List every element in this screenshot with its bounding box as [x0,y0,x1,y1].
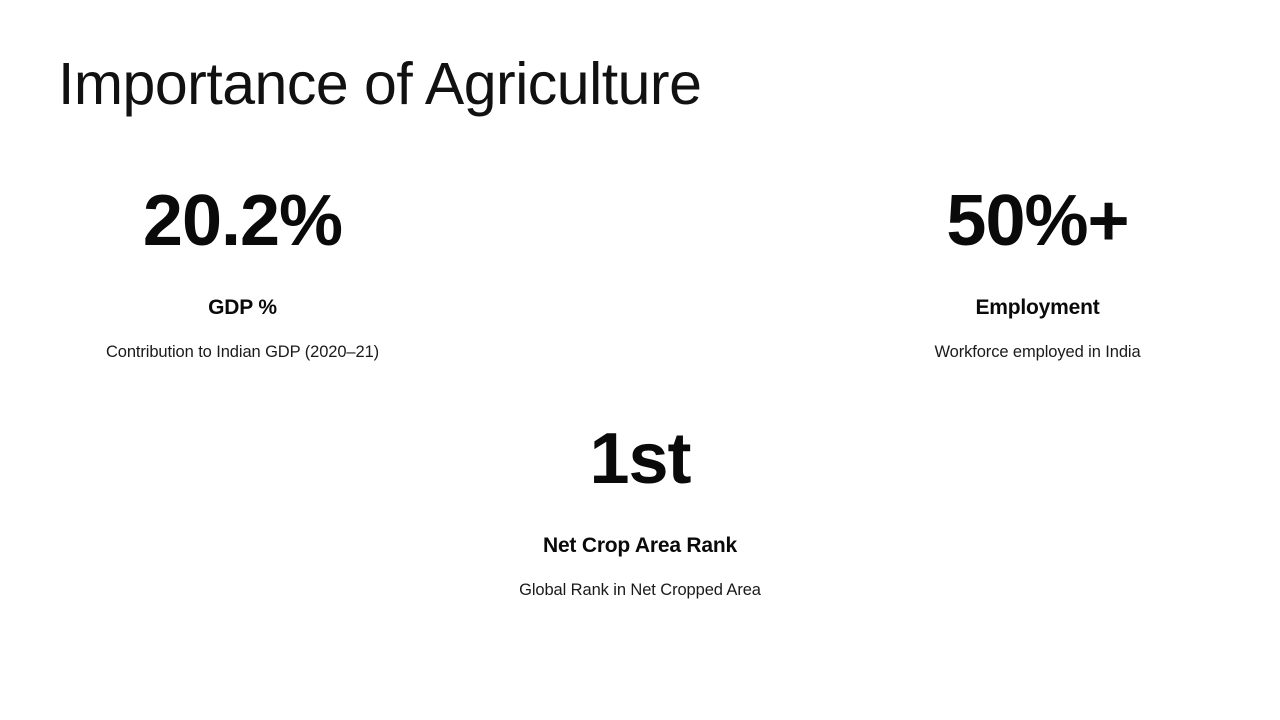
stat-value-gdp: 20.2% [0,185,485,257]
stat-value-employment: 50%+ [795,185,1280,257]
slide-canvas: Importance of Agriculture 20.2% GDP % Co… [0,0,1280,720]
stat-label-gdp: GDP % [0,295,485,320]
stat-description-employment: Workforce employed in India [795,342,1280,363]
stat-value-net-crop-area-rank: 1st [330,423,950,495]
page-title: Importance of Agriculture [58,55,701,114]
stat-description-gdp: Contribution to Indian GDP (2020–21) [0,342,485,363]
stat-description-net-crop-area-rank: Global Rank in Net Cropped Area [330,580,950,601]
stat-block-employment: 50%+ Employment Workforce employed in In… [795,185,1280,363]
stats-row-primary: 20.2% GDP % Contribution to Indian GDP (… [0,185,1280,363]
stat-block-net-crop-area-rank: 1st Net Crop Area Rank Global Rank in Ne… [330,423,950,601]
statistics-grid: 20.2% GDP % Contribution to Indian GDP (… [0,185,1280,601]
stat-block-gdp: 20.2% GDP % Contribution to Indian GDP (… [0,185,485,363]
stats-row-secondary: 1st Net Crop Area Rank Global Rank in Ne… [0,423,1280,601]
stat-label-employment: Employment [795,295,1280,320]
stat-label-net-crop-area-rank: Net Crop Area Rank [330,533,950,558]
